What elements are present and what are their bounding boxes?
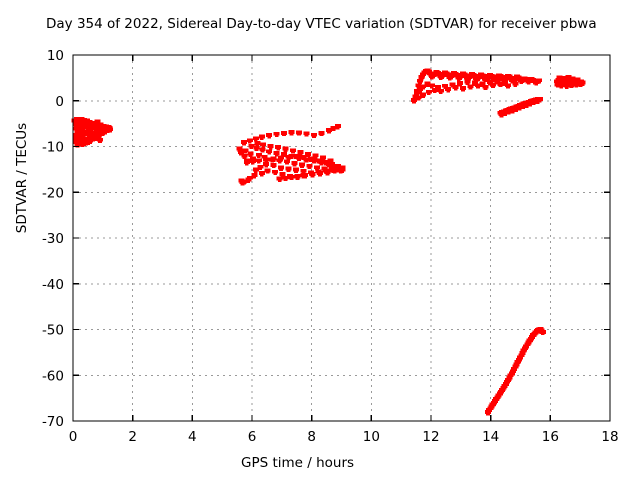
y-tick-label: -20 [42,185,64,201]
x-tick-label: 8 [307,429,316,445]
chart-figure: Day 354 of 2022, Sidereal Day-to-day VTE… [0,0,640,480]
y-tick-label: -10 [42,140,64,156]
plot-canvas: 024681012141618100-10-20-30-40-50-60-70 [0,0,640,480]
y-axis-label: SDTVAR / TECUs [14,98,30,258]
x-tick-label: 18 [601,429,618,445]
grid-lines [73,55,610,421]
x-tick-label: 16 [542,429,559,445]
y-tick-label: -70 [42,414,64,430]
x-tick-label: 6 [248,429,257,445]
chart-title: Day 354 of 2022, Sidereal Day-to-day VTE… [46,16,597,32]
x-tick-label: 0 [69,429,78,445]
y-tick-label: -60 [42,368,64,384]
x-tick-label: 4 [188,429,197,445]
x-axis-label: GPS time / hours [241,455,354,471]
y-tick-label: 0 [55,94,64,110]
x-tick-label: 10 [363,429,380,445]
y-tick-label: -50 [42,323,64,339]
x-tick-label: 2 [128,429,137,445]
y-tick-label: 10 [47,48,64,64]
y-tick-label: -40 [42,277,64,293]
y-tick-label: -30 [42,231,64,247]
data-points [71,68,585,415]
x-tick-label: 14 [482,429,499,445]
x-tick-label: 12 [422,429,439,445]
tick-labels: 024681012141618100-10-20-30-40-50-60-70 [42,48,619,445]
